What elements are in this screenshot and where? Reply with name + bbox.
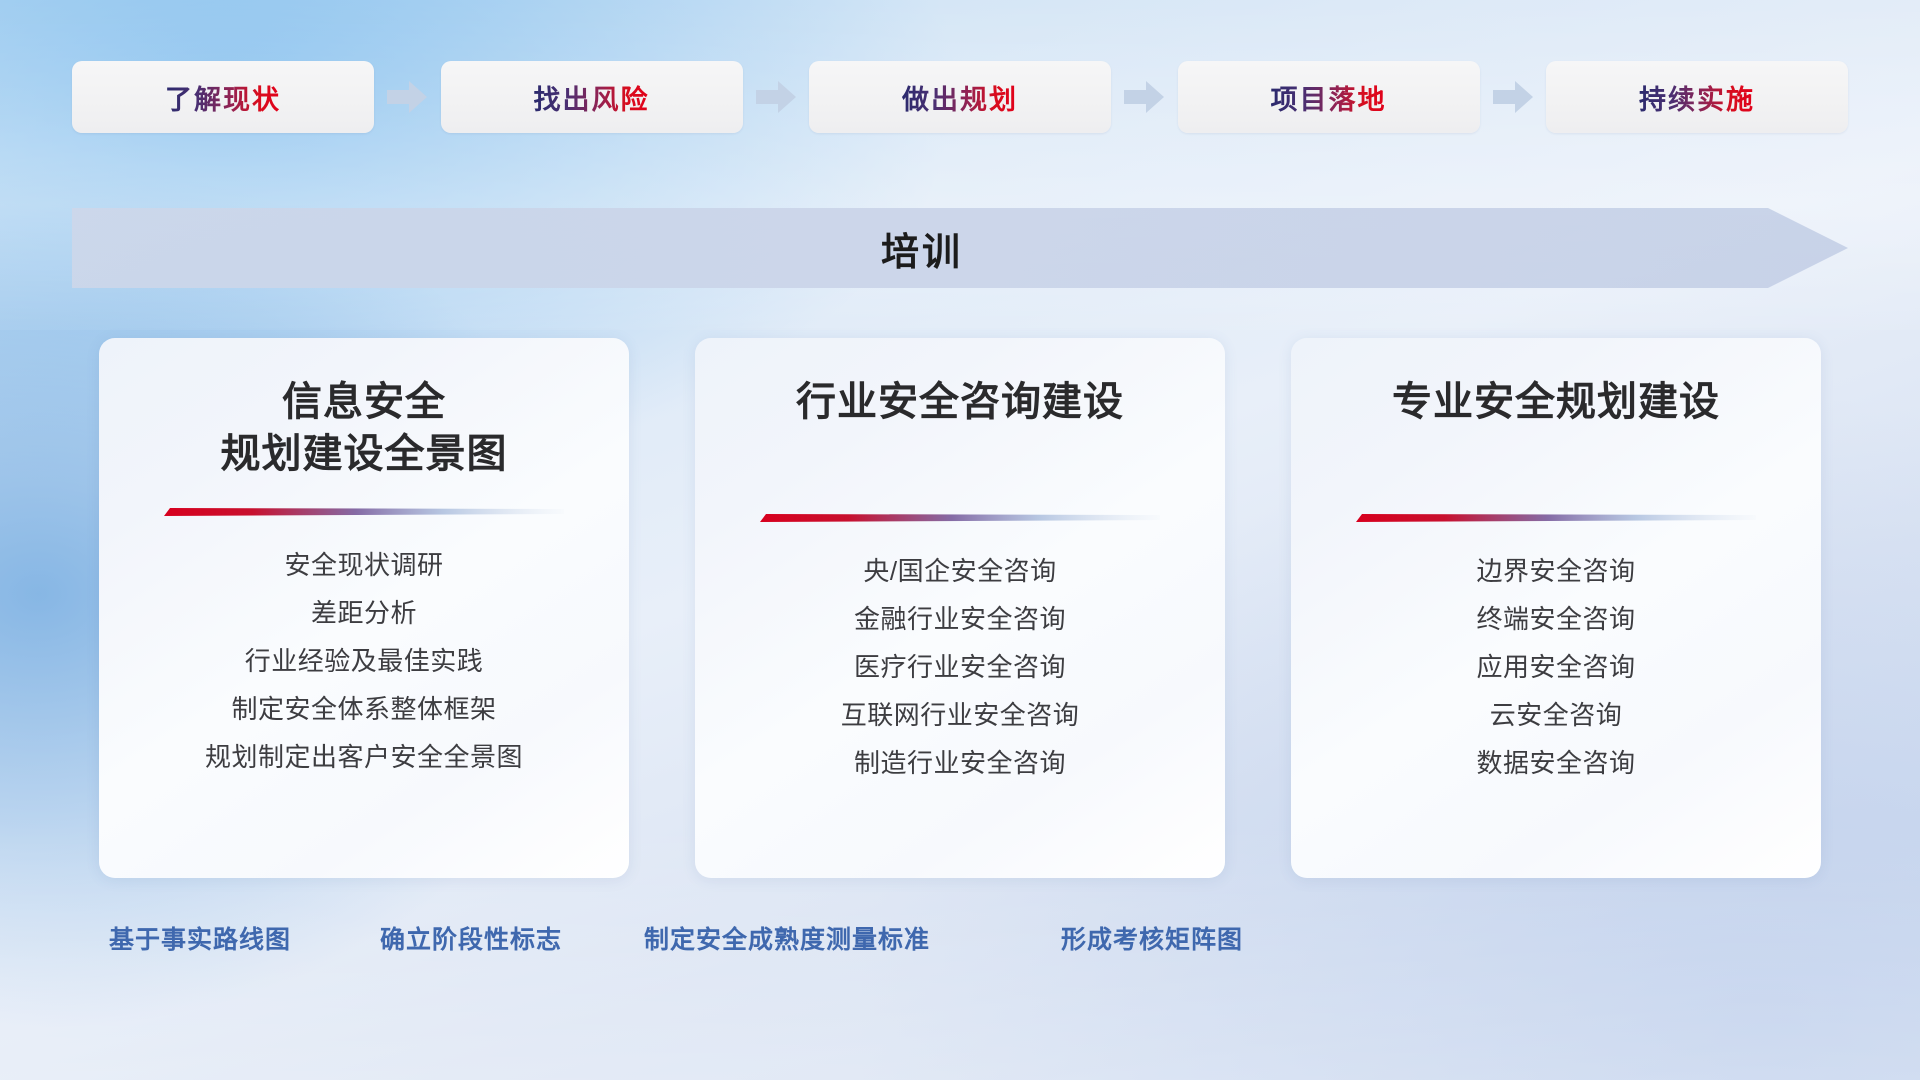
- step-label-2: 找出风险: [534, 78, 650, 117]
- gradient-divider-icon: [164, 506, 564, 520]
- step-arrow-1: [374, 81, 441, 113]
- step-box-4[interactable]: 项目落地: [1178, 61, 1480, 133]
- card-title-line: 规划建设全景图: [221, 428, 508, 480]
- list-item: 安全现状调研: [284, 544, 443, 586]
- bottom-label-row: 基于事实路线图 确立阶段性标志 制定安全成熟度测量标准 形成考核矩阵图: [0, 920, 1920, 972]
- bottom-label-4: 形成考核矩阵图: [1061, 920, 1243, 956]
- list-item: 云安全咨询: [1490, 694, 1623, 736]
- gradient-divider-icon: [760, 512, 1160, 526]
- card-2[interactable]: 行业安全咨询建设: [695, 338, 1225, 878]
- card-row: 信息安全 规划建设全景图: [0, 338, 1920, 878]
- gradient-divider-icon: [1356, 512, 1756, 526]
- step-arrow-4: [1480, 81, 1547, 113]
- step-box-2[interactable]: 找出风险: [441, 61, 743, 133]
- arrow-right-icon: [756, 81, 796, 113]
- arrow-right-icon: [387, 81, 427, 113]
- step-label-3: 做出规划: [902, 78, 1018, 117]
- step-arrow-2: [743, 81, 810, 113]
- card-title-line: 专业安全规划建设: [1392, 376, 1720, 428]
- step-box-3[interactable]: 做出规划: [809, 61, 1111, 133]
- card-divider-3: [1356, 512, 1756, 526]
- list-item: 央/国企安全咨询: [863, 550, 1056, 592]
- card-title-3: 专业安全规划建设: [1392, 376, 1720, 428]
- card-title-line: 行业安全咨询建设: [796, 376, 1124, 428]
- card-wrap-2: 行业安全咨询建设: [695, 338, 1225, 878]
- card-wrap-1: 信息安全 规划建设全景图: [99, 338, 629, 878]
- banner-title: 培训: [72, 208, 1772, 288]
- bottom-label-1: 基于事实路线图: [109, 920, 291, 956]
- arrow-right-icon: [1493, 81, 1533, 113]
- training-banner: 培训: [72, 208, 1848, 288]
- step-label-4: 项目落地: [1271, 78, 1387, 117]
- list-item: 规划制定出客户安全全景图: [205, 736, 523, 778]
- bottom-label-2: 确立阶段性标志: [380, 920, 562, 956]
- card-title-2: 行业安全咨询建设: [796, 376, 1124, 428]
- bottom-label-3: 制定安全成熟度测量标准: [644, 920, 930, 956]
- slide-canvas: 了解现状 找出风险 做出规划 项目落地: [0, 0, 1920, 1080]
- list-item: 医疗行业安全咨询: [854, 646, 1066, 688]
- list-item: 差距分析: [311, 592, 417, 634]
- card-wrap-3: 专业安全规划建设: [1291, 338, 1821, 878]
- card-title-line: 信息安全: [221, 376, 508, 428]
- card-title-1: 信息安全 规划建设全景图: [221, 376, 508, 480]
- step-box-5[interactable]: 持续实施: [1546, 61, 1848, 133]
- list-item: 行业经验及最佳实践: [245, 640, 484, 682]
- list-item: 边界安全咨询: [1476, 550, 1635, 592]
- card-divider-1: [164, 506, 564, 520]
- card-list-3: 边界安全咨询 终端安全咨询 应用安全咨询 云安全咨询 数据安全咨询: [1476, 550, 1635, 785]
- list-item: 数据安全咨询: [1476, 742, 1635, 784]
- card-3[interactable]: 专业安全规划建设: [1291, 338, 1821, 878]
- list-item: 制造行业安全咨询: [854, 742, 1066, 784]
- card-1[interactable]: 信息安全 规划建设全景图: [99, 338, 629, 878]
- step-label-1: 了解现状: [165, 78, 281, 117]
- step-label-5: 持续实施: [1639, 78, 1755, 117]
- list-item: 制定安全体系整体框架: [231, 688, 496, 730]
- list-item: 终端安全咨询: [1476, 598, 1635, 640]
- card-divider-2: [760, 512, 1160, 526]
- list-item: 互联网行业安全咨询: [841, 694, 1080, 736]
- card-list-2: 央/国企安全咨询 金融行业安全咨询 医疗行业安全咨询 互联网行业安全咨询 制造行…: [841, 550, 1080, 785]
- list-item: 应用安全咨询: [1476, 646, 1635, 688]
- list-item: 金融行业安全咨询: [854, 598, 1066, 640]
- arrow-right-icon: [1124, 81, 1164, 113]
- card-list-1: 安全现状调研 差距分析 行业经验及最佳实践 制定安全体系整体框架 规划制定出客户…: [205, 544, 523, 779]
- step-arrow-3: [1111, 81, 1178, 113]
- process-step-row: 了解现状 找出风险 做出规划 项目落地: [0, 59, 1920, 135]
- step-box-1[interactable]: 了解现状: [72, 61, 374, 133]
